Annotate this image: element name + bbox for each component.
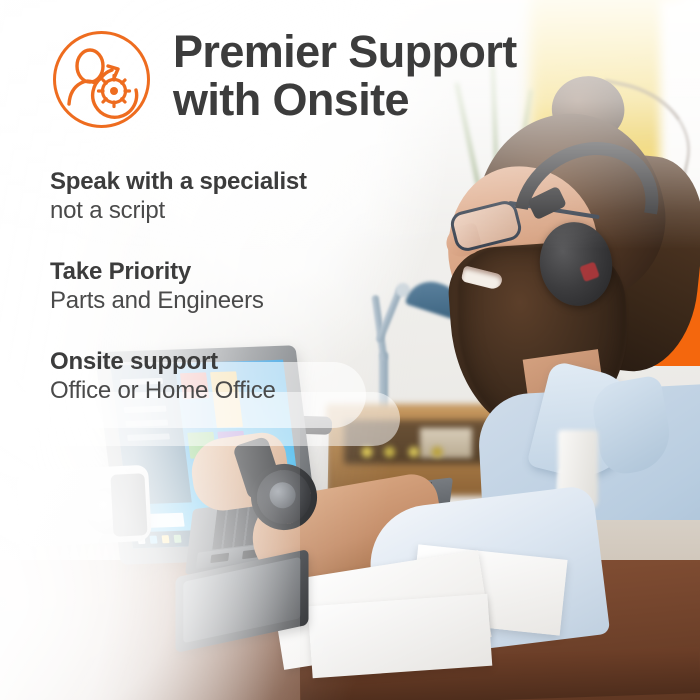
- feature-item-priority: Take Priority Parts and Engineers: [50, 258, 480, 316]
- headline-line-2: with Onsite: [173, 76, 517, 124]
- feature-title: Take Priority: [50, 258, 480, 286]
- user-gear-refresh-icon: [50, 28, 153, 131]
- header-row: Premier Support with Onsite: [50, 26, 670, 131]
- feature-list: Speak with a specialist not a script Tak…: [50, 168, 480, 406]
- feature-item-onsite: Onsite support Office or Home Office: [50, 348, 480, 406]
- feature-title: Onsite support: [50, 348, 480, 376]
- promo-banner: Premier Support with Onsite Speak with a…: [0, 0, 700, 700]
- feature-item-specialist: Speak with a specialist not a script: [50, 168, 480, 226]
- headline-line-1: Premier Support: [173, 26, 517, 77]
- banner-content: Premier Support with Onsite Speak with a…: [0, 0, 700, 700]
- feature-subtitle: Parts and Engineers: [50, 286, 480, 316]
- premier-support-badge: [50, 28, 153, 131]
- feature-subtitle: not a script: [50, 196, 480, 226]
- headline: Premier Support with Onsite: [173, 26, 517, 123]
- feature-subtitle: Office or Home Office: [50, 376, 480, 406]
- feature-title: Speak with a specialist: [50, 168, 480, 196]
